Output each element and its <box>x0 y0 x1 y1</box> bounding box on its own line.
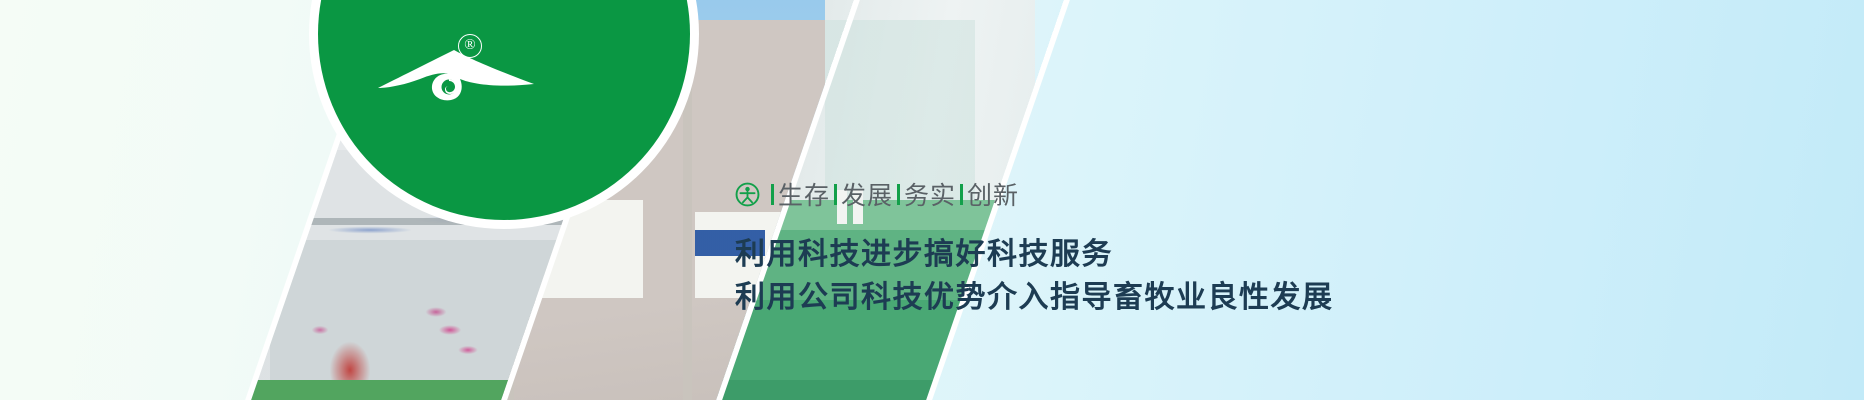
tagline-separator <box>897 184 900 205</box>
promotional-banner: ® 生存 发展 务实 创新 利用科技进步搞好科技服务 利用公司科技优势介入指导畜… <box>0 0 1864 400</box>
wave-bird-swirl-mark-icon <box>376 48 536 110</box>
headline-line-2: 利用公司科技优势介入指导畜牧业良性发展 <box>735 277 1735 320</box>
company-tagline: 生存 发展 务实 创新 <box>735 176 1735 212</box>
tagline-word-1: 生存 <box>778 176 830 212</box>
tagline-word-4: 创新 <box>967 176 1019 212</box>
headline-line-1: 利用科技进步搞好科技服务 <box>735 234 1735 277</box>
tagline-separator <box>960 184 963 205</box>
registered-trademark-icon: ® <box>458 34 482 58</box>
person-in-circle-icon <box>735 182 760 207</box>
tagline-word-3: 务实 <box>904 176 956 212</box>
tagline-separator <box>834 184 837 205</box>
banner-copy: 生存 发展 务实 创新 利用科技进步搞好科技服务 利用公司科技优势介入指导畜牧业… <box>735 176 1735 319</box>
tagline-separator <box>771 184 774 205</box>
tagline-word-2: 发展 <box>841 176 893 212</box>
